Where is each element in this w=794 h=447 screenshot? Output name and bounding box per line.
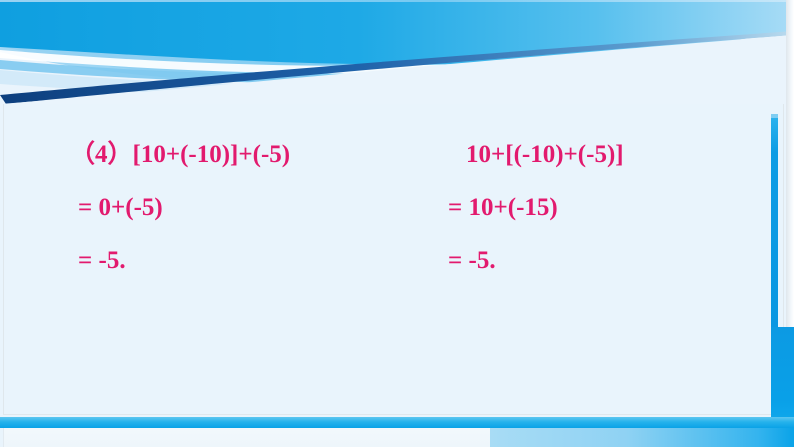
equations-area: （4）[10+(-10)]+(-5) = 0+(-5) = -5. 10+[(-…	[0, 104, 781, 415]
right-edge-shadow	[786, 0, 794, 327]
left-solution-column: （4）[10+(-10)]+(-5) = 0+(-5) = -5.	[70, 142, 290, 273]
presentation-slide: （4）[10+(-10)]+(-5) = 0+(-5) = -5. 10+[(-…	[0, 0, 794, 447]
right-line-2: = 10+(-15)	[448, 195, 624, 220]
right-solution-column: 10+[(-10)+(-5)] = 10+(-15) = -5.	[448, 142, 624, 273]
top-wave-banner	[0, 0, 794, 112]
left-line-2: = 0+(-5)	[70, 195, 290, 220]
wave-graphic	[0, 0, 794, 112]
left-line-1: （4）[10+(-10)]+(-5)	[70, 142, 290, 167]
right-line-1: 10+[(-10)+(-5)]	[448, 142, 624, 167]
right-line-3: = -5.	[448, 248, 624, 273]
bottom-left-pale-strip	[3, 428, 491, 447]
bottom-right-gradient-strip	[490, 428, 794, 447]
left-line-3: = -5.	[70, 248, 290, 273]
bottom-cyan-band	[0, 417, 794, 428]
